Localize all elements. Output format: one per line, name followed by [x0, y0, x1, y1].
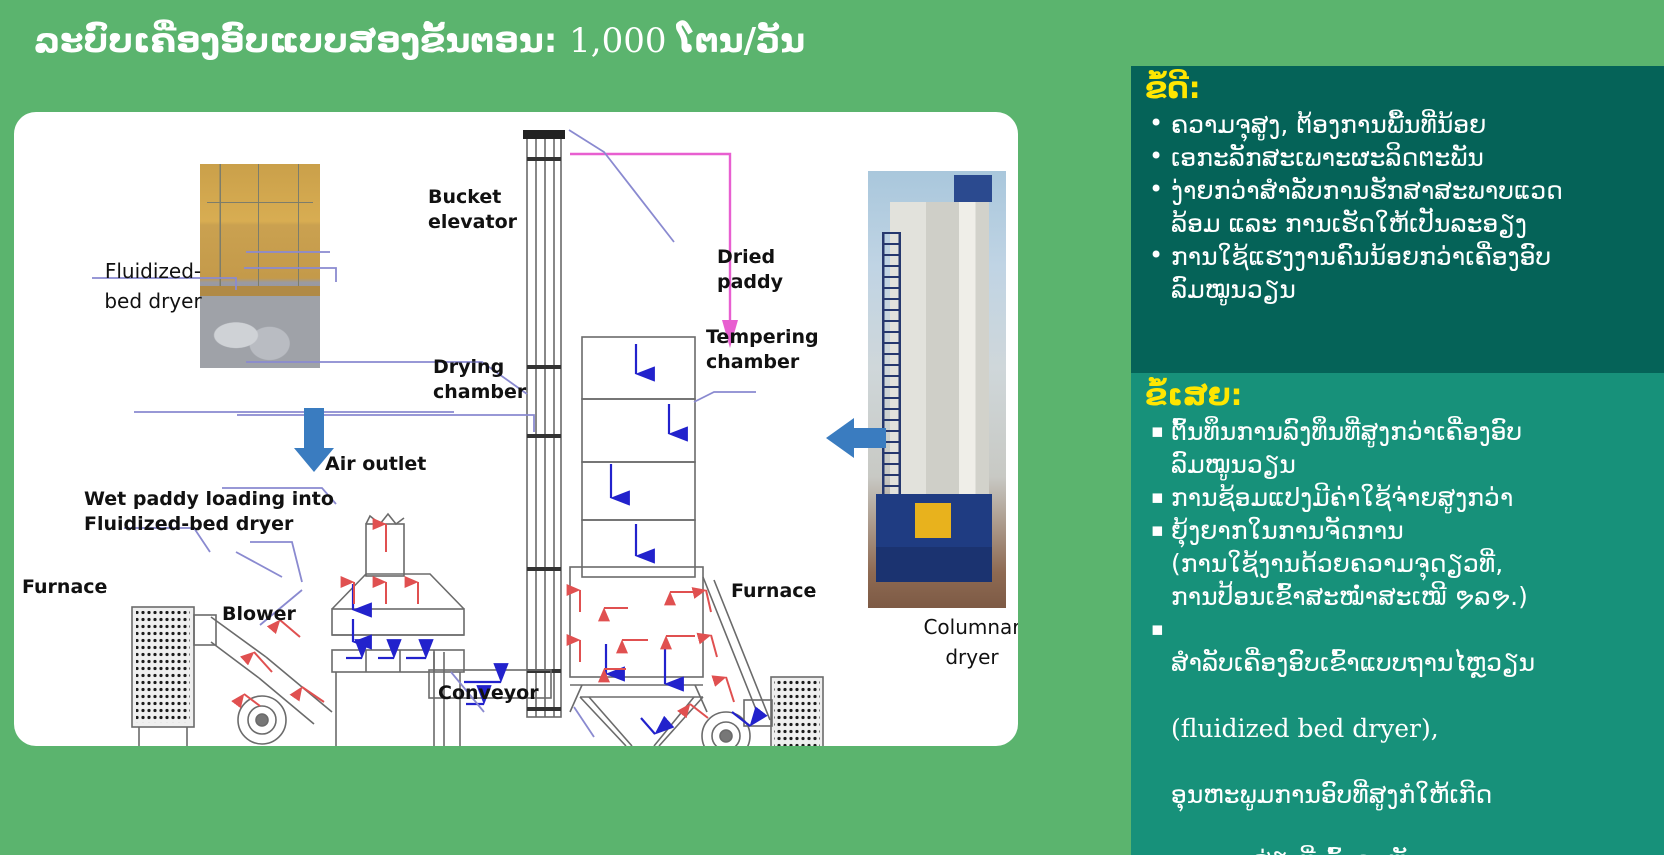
- list-item: ການຊ້ອມແປງມີຄ່າໃຊ້ຈ່າຍສູງກວ່າ: [1149, 481, 1656, 514]
- list-item: ຍຸ້ງຍາກໃນການຈັດການ (ການໃຊ້ງານດ້ວຍຄວາມຈຸດ…: [1149, 514, 1656, 613]
- disadvantages-list: ຕົ້ນທຶນການລົງທຶນທີ່ສູງກວ່າເຄື່ອງອົບ ລົມໝ…: [1131, 415, 1664, 855]
- page-title-unit: ໂຕນ/ວັນ: [677, 21, 805, 61]
- list-item: ການໃຊ້ແຮງງານຄົນນ້ອຍກວ່າເຄື່ອງອົບ ລົມໝູນວ…: [1149, 240, 1656, 306]
- list-item: ຄວາມຈຸສູງ, ຕ້ອງການພື້ນທີ່ນ້ອຍ: [1149, 108, 1656, 141]
- list-item: ງ່າຍກວ່າສໍາລັບການຮັກສາສະພາບແວດ ລ້ອມ ແລະ …: [1149, 174, 1656, 240]
- page-title-lao: ລະບົບເຄື່ອງອົບແບບສອງຂັ້ນຕອນ:: [34, 21, 569, 61]
- disadvantages-heading: ຂໍ້ເສຍ:: [1131, 373, 1664, 415]
- label-bucket-elevator: Bucket elevator: [428, 185, 517, 235]
- advantages-heading: ຂໍ້ດີ:: [1131, 66, 1664, 108]
- label-columnar-dryer: Columnar dryer: [912, 612, 1018, 672]
- label-fluidized-bed-dryer: Fluidized- bed dryer: [98, 256, 208, 316]
- list-item: ຕົ້ນທຶນການລົງທຶນທີ່ສູງກວ່າເຄື່ອງອົບ ລົມໝ…: [1149, 415, 1656, 481]
- paddy-flow-arrows: [346, 344, 750, 734]
- page-title-number: 1,000: [569, 21, 677, 61]
- label-wet-paddy-loading: Wet paddy loading into Fluidized-bed dry…: [84, 487, 334, 537]
- label-drying-chamber: Drying chamber: [433, 355, 526, 405]
- label-furnace-right: Furnace: [731, 579, 816, 604]
- label-furnace-left: Furnace: [22, 575, 107, 600]
- diagram-card: Fluidized- bed dryer Wet paddy loading i…: [14, 112, 1018, 746]
- advantages-list: ຄວາມຈຸສູງ, ຕ້ອງການພື້ນທີ່ນ້ອຍ ເອກະລັກສະເ…: [1131, 108, 1664, 306]
- label-tempering-chamber: Tempering chamber: [706, 325, 819, 375]
- dried-paddy-outlet-line: [570, 154, 738, 348]
- cons-last-line4: ຄວາມສ່ຽງທີ່ເຂົ້າຈະຫັກ: [1171, 844, 1424, 855]
- label-air-outlet: Air outlet: [325, 452, 426, 477]
- label-dried-paddy: Dried paddy: [717, 245, 783, 295]
- disadvantages-panel: ຂໍ້ເສຍ: ຕົ້ນທຶນການລົງທຶນທີ່ສູງກວ່າເຄື່ອງ…: [1131, 373, 1664, 855]
- label-conveyor: Conveyor: [438, 681, 539, 706]
- advantages-panel: ຂໍ້ດີ: ຄວາມຈຸສູງ, ຕ້ອງການພື້ນທີ່ນ້ອຍ ເອກ…: [1131, 66, 1664, 373]
- list-item: ເອກະລັກສະເພາະຜະລິດຕະພັນ: [1149, 141, 1656, 174]
- page-title: ລະບົບເຄື່ອງອົບແບບສອງຂັ້ນຕອນ: 1,000 ໂຕນ/ວ…: [34, 12, 1114, 74]
- cons-last-line1: ສໍາລັບເຄື່ອງອົບເຂົ້າແບບຖານໄຫຼວຽນ: [1171, 648, 1535, 677]
- cons-last-line3: ອຸນຫະພູມການອົບທີ່ສູງກໍໃຫ້ເກີດ: [1171, 780, 1492, 809]
- list-item-fluidized-bed: ສໍາລັບເຄື່ອງອົບເຂົ້າແບບຖານໄຫຼວຽນ (fluidi…: [1149, 613, 1656, 855]
- cons-last-line2: (fluidized bed dryer),: [1171, 714, 1439, 743]
- label-blower: Blower: [222, 602, 296, 627]
